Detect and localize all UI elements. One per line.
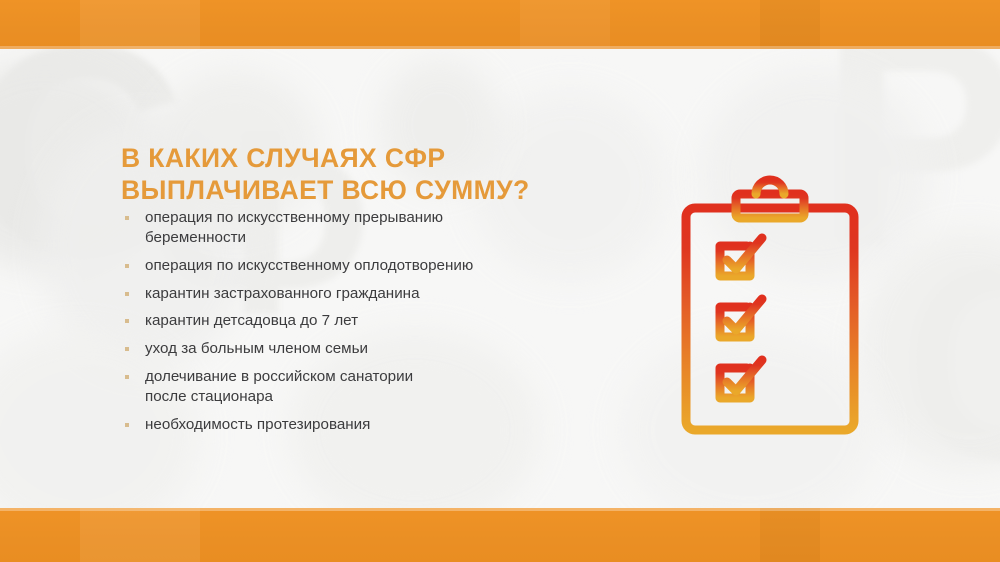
conditions-list: операция по искусственному прерыванию бе… — [121, 208, 641, 442]
list-item: уход за больным членом семьи — [121, 339, 641, 359]
list-item: необходимость протезирования — [121, 415, 641, 435]
list-item: операция по искусственному прерыванию бе… — [121, 208, 641, 248]
list-item-text-cont: после стационара — [145, 387, 641, 407]
list-item-text: операция по искусственному оплодотворени… — [145, 257, 473, 274]
slide-title-line-2: ВЫПЛАЧИВАЕТ ВСЮ СУММУ? — [121, 174, 641, 207]
band-highlight — [520, 0, 610, 49]
band-shadow — [760, 508, 820, 562]
clipboard-checklist-icon — [655, 172, 905, 442]
slide-title-line-1: В КАКИХ СЛУЧАЯХ СФР — [121, 142, 641, 175]
list-item-text: уход за больным членом семьи — [145, 340, 368, 357]
list-item: операция по искусственному оплодотворени… — [121, 256, 641, 276]
slide-canvas: С Ф Р С В КАКИХ СЛУЧАЯХ СФР ВЫПЛАЧИВАЕТ … — [0, 0, 1000, 562]
list-item-text: карантин детсадовца до 7 лет — [145, 312, 358, 329]
list-item: карантин застрахованного гражданина — [121, 284, 641, 304]
list-item-text: операция по искусственному прерыванию — [145, 209, 443, 226]
top-orange-band — [0, 0, 1000, 49]
list-item: карантин детсадовца до 7 лет — [121, 311, 641, 331]
band-highlight — [80, 0, 200, 49]
clipboard-checklist-illustration — [655, 172, 905, 442]
band-highlight — [80, 508, 200, 562]
slide-title: В КАКИХ СЛУЧАЯХ СФР ВЫПЛАЧИВАЕТ ВСЮ СУММ… — [121, 142, 641, 207]
list-item: долечивание в российском санатории после… — [121, 367, 641, 407]
bottom-orange-band — [0, 508, 1000, 562]
list-item-text: карантин застрахованного гражданина — [145, 285, 420, 302]
band-shadow — [760, 0, 820, 49]
list-item-text-cont: беременности — [145, 228, 641, 248]
list-item-text: необходимость протезирования — [145, 416, 370, 433]
list-item-text: долечивание в российском санатории — [145, 368, 413, 385]
